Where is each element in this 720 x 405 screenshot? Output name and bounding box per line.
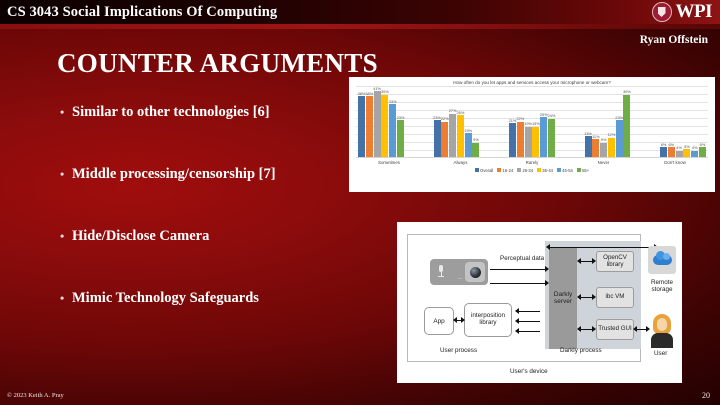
chart-x-tick-label: Sometimes [356,160,422,165]
caption-users-device: User's device [510,368,548,375]
interposition-library-node: interpositionlibrary [464,303,512,337]
chart-bar-value-label: 21% [509,118,517,123]
legend-swatch-icon [475,168,479,172]
chart-bar: 9% [600,86,607,157]
chart-bar-value-label: 23% [615,115,623,120]
arrowhead-icon [453,317,457,323]
arrowhead-icon [461,317,465,323]
chart-bar: 38% [358,86,365,157]
chart-bar-rect [699,147,706,157]
chart-bar-value-label: 23% [397,115,405,120]
chart-legend-item: 35-44 [537,168,553,173]
chart-bar-value-label: 6% [700,142,706,147]
chart-bar: 23% [397,86,404,157]
chart-bar-value-label: 39% [381,89,389,94]
chart-bar-value-label: 38% [365,91,373,96]
chart-bar: 11% [592,86,599,157]
chart-bar-value-label: 11% [592,134,600,139]
chart-bar-value-label: 12% [607,132,615,137]
chart-bar-rect [374,91,381,157]
chart-bar-value-label: 4% [692,145,698,150]
chart-bar-rect [472,143,479,157]
arrow-server-to-remote-storage [549,247,657,248]
chart-bar-value-label: 4% [676,145,682,150]
bullet-text: Similar to other technologies [6] [72,105,360,121]
legend-label: 45-54 [562,168,573,173]
legend-label: 55+ [582,168,589,173]
chart-bar: 15% [465,86,472,157]
chart-bar-value-label: 13% [584,131,592,136]
course-title: CS 3043 Social Implications Of Computing [0,4,277,21]
chart-bar-rect [457,115,464,157]
chart-bar-rect [608,138,615,157]
legend-swatch-icon [517,168,521,172]
chart-bar-rect [366,96,373,157]
darkly-architecture-diagram: Darkly server OpenCV library ibc VM Trus… [397,222,682,383]
chart-bar: 39% [381,86,388,157]
chart-bar-group: 13%11%9%12%23%39% [585,86,631,157]
chart-legend-item: 16-24 [497,168,513,173]
chart-bar: 9% [472,86,479,157]
remote-storage-label: Remotestorage [646,280,678,294]
chart-bar-value-label: 19% [524,121,532,126]
arrowhead-icon [592,258,596,264]
chart-bar-value-label: 38% [358,91,366,96]
chart-bar-rect [358,96,365,157]
chart-bar-rect [532,127,539,157]
chart-x-tick-label: Don't know [642,160,708,165]
survey-bar-chart: How often do you let apps and services a… [349,77,715,192]
chart-x-axis-labels: SometimesAlwaysRarelyNeverDon't know [356,160,708,165]
user-label: User [654,350,667,357]
chart-bar-value-label: 23% [433,115,441,120]
chart-bar: 23% [616,86,623,157]
caption-perceptual-data: Perceptual data [500,255,544,262]
chart-bar: 19% [525,86,532,157]
opencv-library-node: OpenCV library [596,251,634,272]
arrowhead-icon [577,326,581,332]
arrow-interposition-to-server [518,311,540,312]
bullet-list: • Similar to other technologies [6] • Mi… [60,105,360,353]
chart-bar-group: 21%22%19%19%25%24% [509,86,555,157]
chart-title: How often do you let apps and services a… [353,80,711,85]
arrowhead-icon [546,244,550,250]
arrowhead-icon [545,280,549,286]
remote-storage-cloud-icon [648,246,676,274]
chart-bar: 26% [457,86,464,157]
chart-bar-rect [434,120,441,157]
caption-darkly-process: Darkly process [560,347,602,354]
chart-bar-rect [676,151,683,157]
chart-x-tick-label: Always [428,160,494,165]
chart-bar-rect [441,122,448,157]
arrowhead-icon [515,318,519,324]
chart-bar-rect [660,147,667,157]
arrowhead-icon [592,294,596,300]
chart-bar-value-label: 26% [456,110,464,115]
microphone-icon [438,265,444,279]
bullet-text: Hide/Disclose Camera [72,229,360,245]
chart-bar-rect [600,143,607,157]
chart-bar-rect [668,147,675,157]
bullet-marker-icon: • [60,229,72,243]
chart-bar-value-label: 15% [464,128,472,133]
chart-legend: Overall16-2425-3435-4445-5455+ [353,168,711,173]
legend-swatch-icon [557,168,561,172]
wpi-logo: WPI [652,1,713,23]
chart-legend-item: 25-34 [517,168,533,173]
chart-legend-item: Overall [475,168,493,173]
chart-bar-rect [548,119,555,157]
chart-bar-value-label: 41% [373,86,381,91]
chart-bar: 13% [585,86,592,157]
chart-bar-value-label: 27% [449,108,457,113]
chart-bar-rect [585,136,592,157]
chart-bar-rect [449,114,456,157]
legend-swatch-icon [497,168,501,172]
list-item: • Hide/Disclose Camera [60,229,360,245]
chart-bar-rect [465,133,472,157]
chart-bar: 4% [691,86,698,157]
trusted-gui-node: Trusted GUI [596,319,634,340]
app-node: App [424,307,454,335]
chart-bar: 23% [434,86,441,157]
chart-x-tick-label: Rarely [499,160,565,165]
legend-label: 25-34 [522,168,533,173]
arrowhead-icon [545,266,549,272]
chart-legend-item: 45-54 [557,168,573,173]
chart-bar: 39% [623,86,630,157]
chart-bar: 22% [517,86,524,157]
chart-bar-value-label: 22% [516,116,524,121]
presenter-name: Ryan Offstein [640,34,708,46]
chart-bar-value-label: 25% [540,112,548,117]
chart-bar-value-label: 5% [684,144,690,149]
legend-swatch-icon [537,168,541,172]
chart-bar: 38% [366,86,373,157]
chart-bar-value-label: 6% [661,142,667,147]
bullet-marker-icon: • [60,105,72,119]
slide-number: 20 [702,391,710,400]
chart-bar-group: 38%38%41%39%33%23% [358,86,404,157]
bullet-marker-icon: • [60,167,72,181]
chart-bar: 19% [532,86,539,157]
caption-user-process: User process [440,347,477,354]
chart-bar: 21% [509,86,516,157]
chart-bar: 33% [389,86,396,157]
chart-bar: 6% [660,86,667,157]
arrowhead-icon [577,294,581,300]
chart-bar: 12% [608,86,615,157]
legend-label: 16-24 [502,168,513,173]
wpi-logo-text: WPI [676,1,713,23]
wpi-seal-icon [652,2,672,22]
chart-bar-rect [683,149,690,157]
slide-header-bar: CS 3043 Social Implications Of Computing [0,0,720,24]
chart-bar-rect [540,117,547,157]
chart-bar-rect [525,127,532,157]
chart-bar: 22% [441,86,448,157]
page-title: COUNTER ARGUMENTS [57,48,378,79]
chart-bar-group: 23%22%27%26%15%9% [434,86,480,157]
chart-bar: 6% [668,86,675,157]
ibc-vm-node: ibc VM [596,287,634,308]
chart-bar-rect [616,120,623,157]
legend-swatch-icon [577,168,581,172]
chart-bar-rect [397,120,404,157]
chart-bar-rect [517,122,524,157]
bullet-marker-icon: • [60,291,72,305]
chart-bar-value-label: 9% [601,137,607,142]
chart-bar-value-label: 22% [441,116,449,121]
chart-bar-rect [691,151,698,157]
chart-bar-groups: 38%38%41%39%33%23%23%22%27%26%15%9%21%22… [356,86,708,157]
darkly-server-node: Darkly server [549,247,577,349]
chart-bar: 41% [374,86,381,157]
chart-bar-value-label: 6% [668,142,674,147]
chart-bar-value-label: 33% [389,99,397,104]
chart-bar: 4% [676,86,683,157]
arrow-interposition-to-server [518,331,540,332]
chart-bar-value-label: 39% [623,89,631,94]
users-device-boundary: Darkly server OpenCV library ibc VM Trus… [407,234,641,362]
arrow-sensor-to-server [490,283,546,284]
legend-label: Overall [480,168,493,173]
arrowhead-icon [592,326,596,332]
chart-bar-value-label: 9% [473,137,479,142]
chart-bar-rect [592,139,599,157]
chart-bar: 27% [449,86,456,157]
user-avatar-icon [650,314,674,348]
arrow-interposition-to-server [518,321,540,322]
list-item: • Middle processing/censorship [7] [60,167,360,183]
header-sheen-divider [0,24,720,29]
bullet-text: Mimic Technology Safeguards [72,291,360,307]
chart-bar-value-label: 19% [532,121,540,126]
arrowhead-icon [633,326,637,332]
chart-bar: 6% [699,86,706,157]
arrow-sensor-to-server [490,269,546,270]
chart-bar-group: 6%6%4%5%4%6% [660,86,706,157]
chart-legend-item: 55+ [577,168,589,173]
chart-bar-value-label: 24% [548,113,556,118]
bullet-text: Middle processing/censorship [7] [72,167,360,183]
chart-plot-area: 38%38%41%39%33%23%23%22%27%26%15%9%21%22… [356,86,708,158]
chart-bar-rect [623,95,630,157]
chart-bar: 24% [548,86,555,157]
ellipsis-icon: .. [458,274,462,281]
arrowhead-icon [515,308,519,314]
chart-bar-rect [389,104,396,157]
arrowhead-icon [515,328,519,334]
list-item: • Similar to other technologies [6] [60,105,360,121]
chart-bar: 25% [540,86,547,157]
legend-label: 35-44 [542,168,553,173]
chart-bar: 5% [683,86,690,157]
chart-x-tick-label: Never [571,160,637,165]
arrowhead-icon [577,258,581,264]
camera-lens-icon [465,262,485,282]
list-item: • Mimic Technology Safeguards [60,291,360,307]
copyright-notice: © 2023 Keith A. Pray [7,392,64,399]
slide-canvas: CS 3043 Social Implications Of Computing… [0,0,720,405]
chart-bar-rect [381,95,388,157]
chart-bar-rect [509,123,516,157]
